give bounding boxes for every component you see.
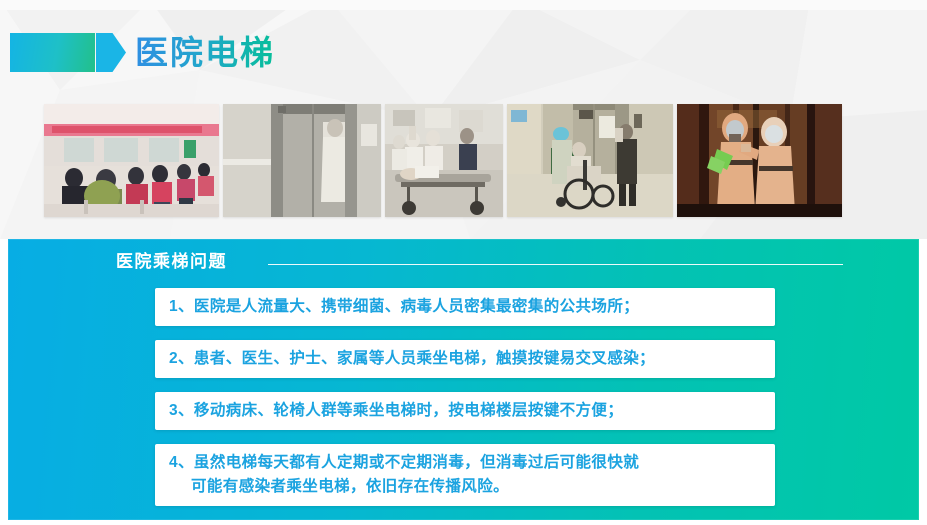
heading-divider xyxy=(268,264,843,265)
page-title: 医院电梯 xyxy=(135,31,275,75)
list-item-line: 可能有感染者乘坐电梯，依旧存在传播风险。 xyxy=(169,475,765,499)
photo-hazmat-disinfection-elevator xyxy=(677,104,842,217)
photo-elevator-doorway-patient xyxy=(223,104,381,217)
photo-stretcher-bed-corridor xyxy=(385,104,503,217)
header-area: 医院电梯 xyxy=(0,0,927,239)
panel-heading-text: 医院乘梯问题 xyxy=(116,249,227,275)
title-accent-band xyxy=(10,33,95,72)
photo-wheelchair-at-elevator xyxy=(507,104,673,217)
slide-root: 医院电梯 xyxy=(0,0,927,525)
problem-list: 1、医院是人流量大、携带细菌、病毒人员密集最密集的公共场所； 2、患者、医生、护… xyxy=(155,288,783,520)
photo-strip xyxy=(44,104,834,217)
list-item-line: 4、虽然电梯每天都有人定期或不定期消毒，但消毒过后可能很快就 xyxy=(169,451,765,475)
list-item-line: 2、患者、医生、护士、家属等人员乘坐电梯，触摸按键易交叉感染； xyxy=(169,347,765,371)
list-item[interactable]: 4、虽然电梯每天都有人定期或不定期消毒，但消毒过后可能很快就 可能有感染者乘坐电… xyxy=(155,444,775,506)
panel-heading-row: 医院乘梯问题 xyxy=(116,249,856,277)
problems-panel: 医院乘梯问题 1、医院是人流量大、携带细菌、病毒人员密集最密集的公共场所； 2、… xyxy=(8,239,919,520)
list-item[interactable]: 1、医院是人流量大、携带细菌、病毒人员密集最密集的公共场所； xyxy=(155,288,775,326)
list-item[interactable]: 3、移动病床、轮椅人群等乘坐电梯时，按电梯楼层按键不方便； xyxy=(155,392,775,430)
photo-hospital-waiting-hall xyxy=(44,104,219,217)
list-item-line: 1、医院是人流量大、携带细菌、病毒人员密集最密集的公共场所； xyxy=(169,295,765,319)
list-item-line: 3、移动病床、轮椅人群等乘坐电梯时，按电梯楼层按键不方便； xyxy=(169,399,765,423)
list-item[interactable]: 2、患者、医生、护士、家属等人员乘坐电梯，触摸按键易交叉感染； xyxy=(155,340,775,378)
